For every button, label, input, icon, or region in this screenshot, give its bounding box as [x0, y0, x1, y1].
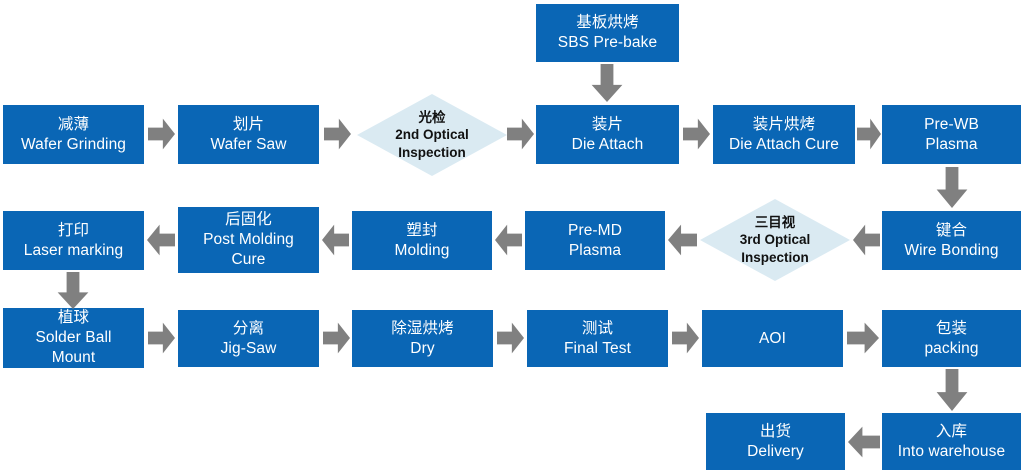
node-label: 分离Jig-Saw	[182, 319, 315, 359]
node-label-en: 3rd Optical Inspection	[711, 231, 840, 266]
node-label: 光检2nd Optical Inspection	[368, 109, 497, 162]
arrow-right-icon	[683, 118, 710, 150]
node-label-en: Post Molding Cure	[182, 230, 315, 270]
node-label: 后固化Post Molding Cure	[182, 210, 315, 269]
node-label-cn: 光检	[368, 109, 497, 127]
arrow-down-icon	[936, 167, 968, 208]
node-label: 划片Wafer Saw	[182, 115, 315, 155]
node-label-cn: 除湿烘烤	[356, 319, 489, 339]
node-label: 植球Solder Ball Mount	[7, 308, 140, 367]
node-label-en: Laser marking	[7, 241, 140, 261]
node-label-en: Plasma	[529, 241, 661, 261]
node-label-cn: 植球	[7, 308, 140, 328]
node-label: 减薄Wafer Grinding	[7, 115, 140, 155]
node-label-en: Wafer Grinding	[7, 135, 140, 155]
node-label-en: Solder Ball Mount	[7, 328, 140, 368]
node-optical_3rd[interactable]: 三目视3rd Optical Inspection	[700, 199, 850, 281]
node-label-cn: 塑封	[356, 221, 488, 241]
node-label-en: 2nd Optical Inspection	[368, 126, 497, 161]
node-sbs_prebake[interactable]: 基板烘烤SBS Pre-bake	[536, 4, 679, 62]
node-label-cn: 测试	[531, 319, 664, 339]
arrow-right-icon	[847, 322, 879, 354]
node-label-en: Plasma	[886, 135, 1017, 155]
process-flow-diagram: 基板烘烤SBS Pre-bake减薄Wafer Grinding划片Wafer …	[0, 0, 1024, 473]
arrow-left-icon	[495, 224, 522, 256]
node-label-cn: 三目视	[711, 214, 840, 232]
arrow-right-icon	[507, 118, 534, 150]
node-label-en: Die Attach Cure	[717, 135, 851, 155]
node-dry[interactable]: 除湿烘烤Dry	[352, 310, 493, 367]
node-label-en: Into warehouse	[886, 442, 1017, 462]
node-label-en: Molding	[356, 241, 488, 261]
node-delivery[interactable]: 出货Delivery	[706, 413, 845, 470]
node-label-cn: 入库	[886, 422, 1017, 442]
node-die_attach_cure[interactable]: 装片烘烤Die Attach Cure	[713, 105, 855, 164]
node-label: Pre-MDPlasma	[529, 221, 661, 261]
node-label-en: packing	[886, 339, 1017, 359]
arrow-right-icon	[672, 322, 699, 354]
node-packing[interactable]: 包装packing	[882, 310, 1021, 367]
arrow-left-icon	[853, 224, 880, 256]
node-label-en: SBS Pre-bake	[540, 33, 675, 53]
node-label: 装片烘烤Die Attach Cure	[717, 115, 851, 155]
node-final_test[interactable]: 测试Final Test	[527, 310, 668, 367]
arrow-right-icon	[148, 322, 175, 354]
node-label-en: AOI	[706, 329, 839, 349]
arrow-down-icon	[936, 369, 968, 411]
node-pre_wb_plasma[interactable]: Pre-WBPlasma	[882, 105, 1021, 164]
node-wafer_saw[interactable]: 划片Wafer Saw	[178, 105, 319, 164]
arrow-right-icon	[323, 322, 350, 354]
node-die_attach[interactable]: 装片Die Attach	[536, 105, 679, 164]
node-label-en: Jig-Saw	[182, 339, 315, 359]
arrow-left-icon	[668, 224, 697, 256]
node-label-cn: 后固化	[182, 210, 315, 230]
node-label: 出货Delivery	[710, 422, 841, 462]
node-jig_saw[interactable]: 分离Jig-Saw	[178, 310, 319, 367]
node-aoi[interactable]: AOI	[702, 310, 843, 367]
node-label: 基板烘烤SBS Pre-bake	[540, 13, 675, 53]
node-label-cn: 基板烘烤	[540, 13, 675, 33]
node-label: Pre-WBPlasma	[886, 115, 1017, 155]
node-wire_bonding[interactable]: 键合Wire Bonding	[882, 211, 1021, 270]
node-label-en: Wire Bonding	[886, 241, 1017, 261]
node-into_warehouse[interactable]: 入库Into warehouse	[882, 413, 1021, 470]
node-label: 测试Final Test	[531, 319, 664, 359]
node-molding[interactable]: 塑封Molding	[352, 211, 492, 270]
node-label-cn: Pre-MD	[529, 221, 661, 241]
arrow-down-icon	[57, 272, 89, 309]
node-label-cn: 打印	[7, 221, 140, 241]
node-post_mold_cure[interactable]: 后固化Post Molding Cure	[178, 207, 319, 273]
arrow-right-icon	[324, 118, 351, 150]
node-label-cn: 键合	[886, 221, 1017, 241]
node-label-cn: Pre-WB	[886, 115, 1017, 135]
node-label: AOI	[706, 329, 839, 349]
node-label: 装片Die Attach	[540, 115, 675, 155]
node-label: 三目视3rd Optical Inspection	[711, 214, 840, 267]
arrow-left-icon	[147, 224, 175, 256]
arrow-down-icon	[591, 64, 623, 102]
node-wafer_grinding[interactable]: 减薄Wafer Grinding	[3, 105, 144, 164]
node-label-cn: 装片	[540, 115, 675, 135]
node-label: 塑封Molding	[356, 221, 488, 261]
node-label-cn: 分离	[182, 319, 315, 339]
node-label-en: Wafer Saw	[182, 135, 315, 155]
node-label-en: Final Test	[531, 339, 664, 359]
node-label-cn: 装片烘烤	[717, 115, 851, 135]
node-label: 除湿烘烤Dry	[356, 319, 489, 359]
arrow-left-icon	[322, 224, 349, 256]
arrow-right-icon	[497, 322, 524, 354]
node-label-en: Die Attach	[540, 135, 675, 155]
node-label-cn: 出货	[710, 422, 841, 442]
node-label-en: Delivery	[710, 442, 841, 462]
node-label: 打印Laser marking	[7, 221, 140, 261]
node-label: 键合Wire Bonding	[886, 221, 1017, 261]
node-label: 包装packing	[886, 319, 1017, 359]
node-optical_2nd[interactable]: 光检2nd Optical Inspection	[357, 94, 507, 176]
node-pre_md_plasma[interactable]: Pre-MDPlasma	[525, 211, 665, 270]
node-label-cn: 减薄	[7, 115, 140, 135]
node-laser_marking[interactable]: 打印Laser marking	[3, 211, 144, 270]
node-solder_ball[interactable]: 植球Solder Ball Mount	[3, 308, 144, 368]
node-label-en: Dry	[356, 339, 489, 359]
arrow-right-icon	[148, 118, 175, 150]
node-label: 入库Into warehouse	[886, 422, 1017, 462]
arrow-right-icon	[857, 118, 881, 150]
arrow-left-icon	[848, 426, 880, 458]
node-label-cn: 包装	[886, 319, 1017, 339]
node-label-cn: 划片	[182, 115, 315, 135]
